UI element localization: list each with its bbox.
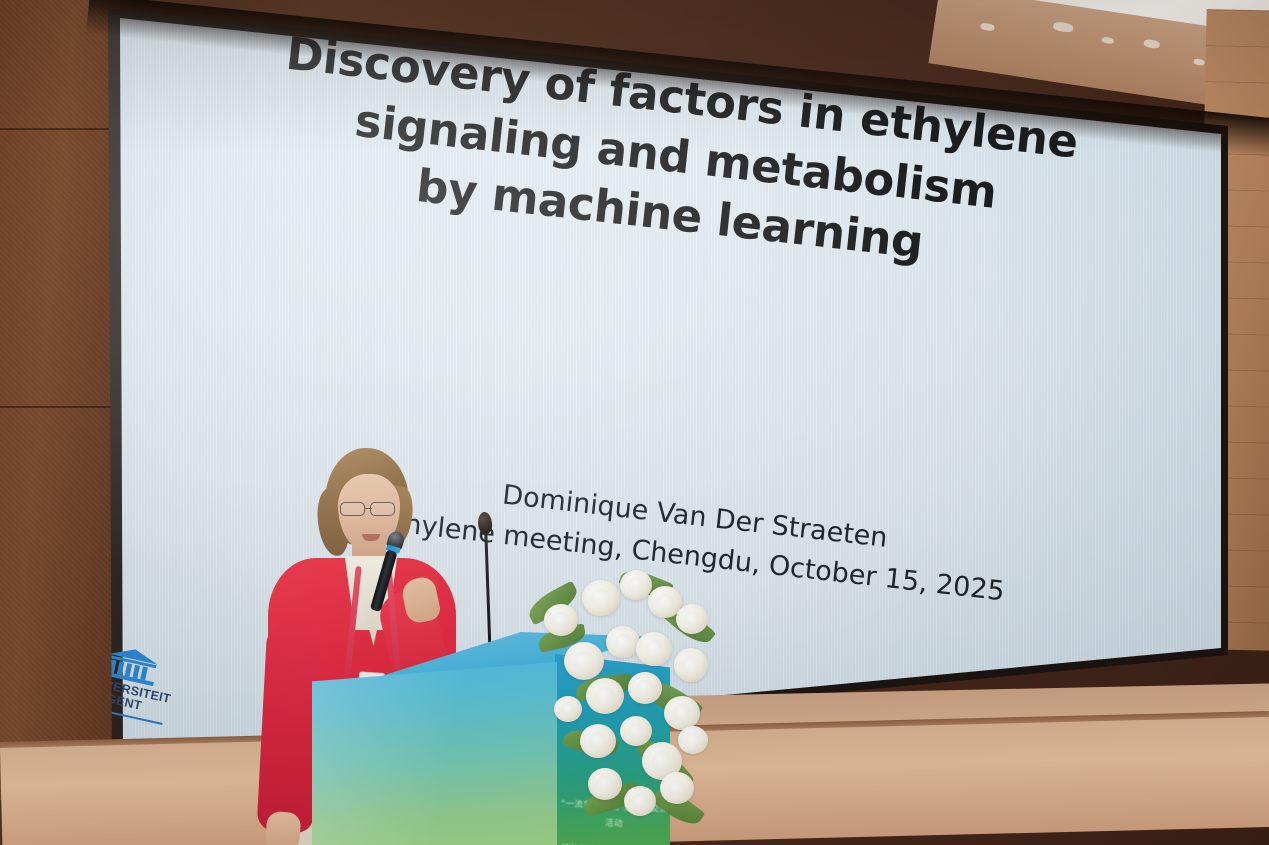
lens-right: [370, 502, 395, 516]
flower-arrangement: [524, 556, 724, 838]
podium-banner-line-3: 植物激素研究学术研讨会: [556, 841, 669, 845]
eyeglasses-icon: [338, 502, 402, 517]
conference-photo-scene: Discovery of factors in ethylene signali…: [0, 0, 1269, 845]
podium-highlight: [312, 662, 557, 845]
speaker-resting-hand: [265, 811, 302, 845]
glasses-bridge: [365, 508, 372, 509]
lens-left: [340, 502, 365, 516]
left-wall-panel: [0, 0, 120, 800]
